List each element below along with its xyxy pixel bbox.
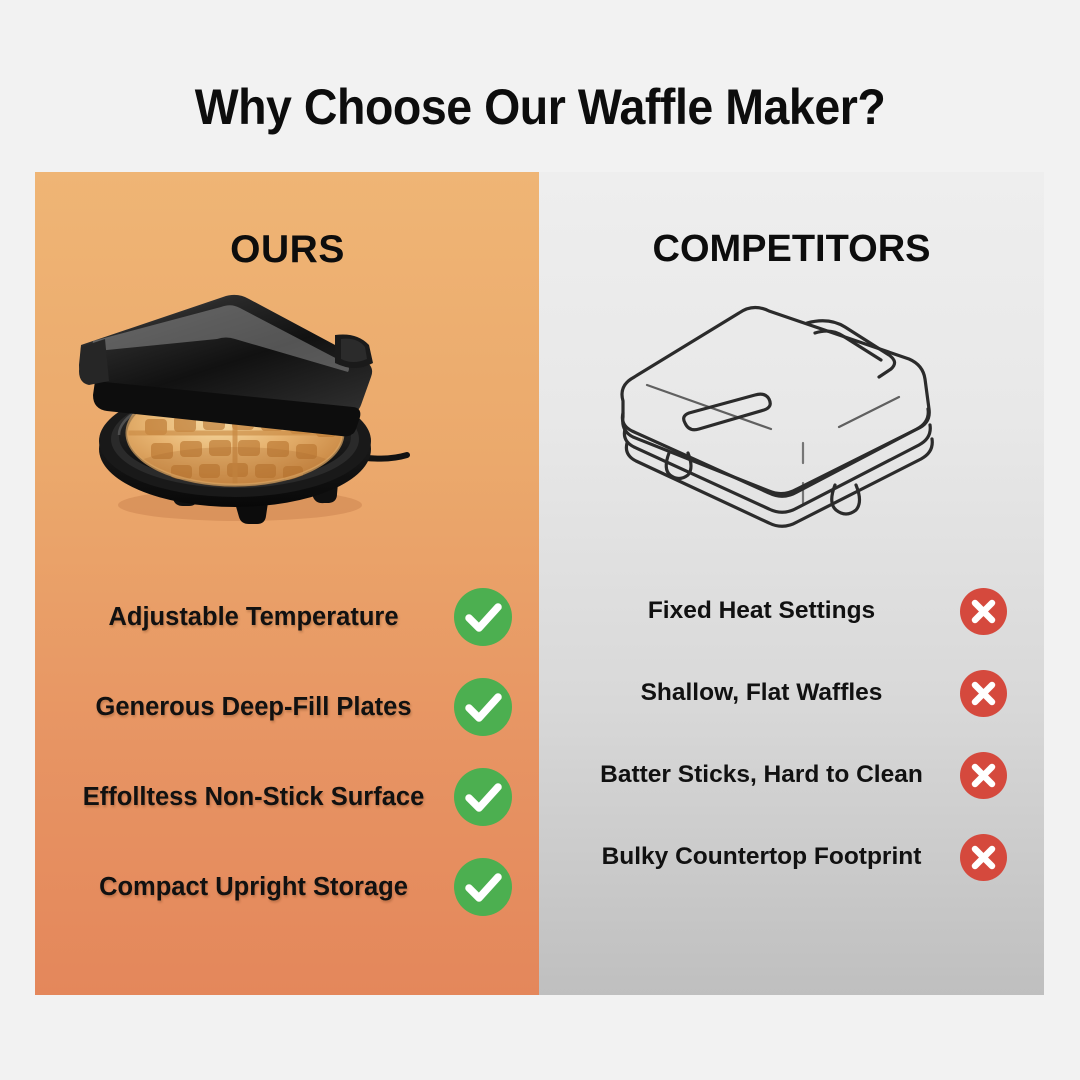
cross-icon: [960, 834, 1007, 881]
feature-label: Compact Upright Storage: [35, 873, 454, 902]
comparison-panel-ours: OURS: [35, 172, 540, 995]
feature-label: Shallow, Flat Waffles: [539, 679, 960, 707]
feature-row: Generous Deep-Fill Plates: [35, 662, 540, 752]
waffle-maker-open-with-waffle-photo: [35, 277, 540, 542]
cross-icon: [960, 588, 1007, 635]
panel-heading-competitors: COMPETITORS: [539, 228, 1044, 271]
page-title: Why Choose Our Waffle Maker?: [38, 78, 1042, 136]
feature-list-competitors: Fixed Heat Settings Shallow, Flat Waffle…: [539, 570, 1044, 898]
check-icon: [454, 768, 512, 826]
square-waffle-maker-closed-line-drawing: [539, 277, 1044, 542]
feature-label: Batter Sticks, Hard to Clean: [539, 761, 960, 789]
feature-label: Bulky Countertop Footprint: [539, 843, 960, 871]
feature-row: Fixed Heat Settings: [539, 570, 1044, 652]
feature-label: Adjustable Temperature: [35, 603, 454, 632]
comparison-panel-competitors: COMPETITORS: [539, 172, 1044, 995]
feature-label: Generous Deep-Fill Plates: [35, 693, 454, 722]
check-icon: [454, 588, 512, 646]
feature-list-ours: Adjustable Temperature Generous Deep-Fil…: [35, 572, 540, 932]
feature-label: Fixed Heat Settings: [539, 597, 960, 625]
feature-row: Bulky Countertop Footprint: [539, 816, 1044, 898]
cross-icon: [960, 752, 1007, 799]
feature-row: Compact Upright Storage: [35, 842, 540, 932]
check-icon: [454, 678, 512, 736]
panel-heading-ours: OURS: [35, 228, 540, 272]
feature-row: Effolltess Non-Stick Surface: [35, 752, 540, 842]
feature-row: Batter Sticks, Hard to Clean: [539, 734, 1044, 816]
feature-row: Shallow, Flat Waffles: [539, 652, 1044, 734]
cross-icon: [960, 670, 1007, 717]
feature-label: Effolltess Non-Stick Surface: [35, 783, 454, 812]
feature-row: Adjustable Temperature: [35, 572, 540, 662]
check-icon: [454, 858, 512, 916]
